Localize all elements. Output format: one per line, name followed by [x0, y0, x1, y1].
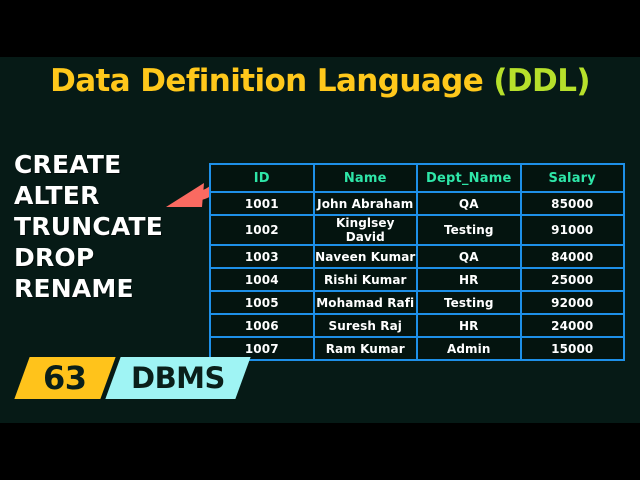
table-row: 1002 Kinglsey David Testing 91000: [210, 215, 624, 245]
page-title-accent: (DDL): [493, 63, 590, 99]
table-row: 1004 Rishi Kumar HR 25000: [210, 268, 624, 291]
table-row: 1001 John Abraham QA 85000: [210, 192, 624, 215]
badge-topic: DBMS: [105, 357, 250, 399]
badge-topic-text: DBMS: [131, 361, 225, 395]
slide-content-area: Data Definition Language (DDL) DDL Comma…: [0, 57, 640, 423]
command-item-create: CREATE: [14, 149, 204, 180]
cell-id: 1002: [210, 215, 314, 245]
cell-dept-name: QA: [417, 192, 521, 215]
cell-salary: 24000: [521, 314, 625, 337]
cell-salary: 15000: [521, 337, 625, 360]
page-title: Data Definition Language (DDL): [0, 63, 640, 99]
cell-id: 1001: [210, 192, 314, 215]
cell-name: Ram Kumar: [314, 337, 418, 360]
cell-name: Mohamad Rafi: [314, 291, 418, 314]
table-row: 1003 Naveen Kumar QA 84000: [210, 245, 624, 268]
cell-dept-name: HR: [417, 268, 521, 291]
command-item-alter: ALTER: [14, 180, 204, 211]
cell-name: Kinglsey David: [314, 215, 418, 245]
table-row: 1005 Mohamad Rafi Testing 92000: [210, 291, 624, 314]
cell-id: 1003: [210, 245, 314, 268]
page-title-main: Data Definition Language: [50, 63, 493, 99]
cell-id: 1006: [210, 314, 314, 337]
cell-name: Naveen Kumar: [314, 245, 418, 268]
command-item-drop: DROP: [14, 242, 204, 273]
table-header-row: ID Name Dept_Name Salary: [210, 164, 624, 192]
cell-salary: 92000: [521, 291, 625, 314]
column-header-dept-name: Dept_Name: [417, 164, 521, 192]
command-item-rename: RENAME: [14, 273, 204, 304]
cell-salary: 84000: [521, 245, 625, 268]
cell-salary: 25000: [521, 268, 625, 291]
cell-salary: 85000: [521, 192, 625, 215]
cell-name: Rishi Kumar: [314, 268, 418, 291]
column-header-name: Name: [314, 164, 418, 192]
command-item-truncate: TRUNCATE: [14, 211, 204, 242]
cell-dept-name: Testing: [417, 291, 521, 314]
cell-dept-name: Testing: [417, 215, 521, 245]
cell-id: 1005: [210, 291, 314, 314]
column-header-id: ID: [210, 164, 314, 192]
table-row: 1006 Suresh Raj HR 24000: [210, 314, 624, 337]
column-header-salary: Salary: [521, 164, 625, 192]
cell-salary: 91000: [521, 215, 625, 245]
badge-lesson-number-text: 63: [43, 359, 87, 397]
cell-dept-name: HR: [417, 314, 521, 337]
cell-dept-name: Admin: [417, 337, 521, 360]
ddl-command-list: CREATE ALTER TRUNCATE DROP RENAME: [14, 149, 204, 304]
cell-name: Suresh Raj: [314, 314, 418, 337]
lesson-badge: 63 DBMS: [22, 357, 243, 399]
badge-lesson-number: 63: [14, 357, 115, 399]
table-row: 1007 Ram Kumar Admin 15000: [210, 337, 624, 360]
cell-id: 1004: [210, 268, 314, 291]
cell-dept-name: QA: [417, 245, 521, 268]
cell-name: John Abraham: [314, 192, 418, 215]
employee-table: ID Name Dept_Name Salary 1001 John Abrah…: [209, 163, 625, 361]
slide: Data Definition Language (DDL) DDL Comma…: [0, 0, 640, 480]
